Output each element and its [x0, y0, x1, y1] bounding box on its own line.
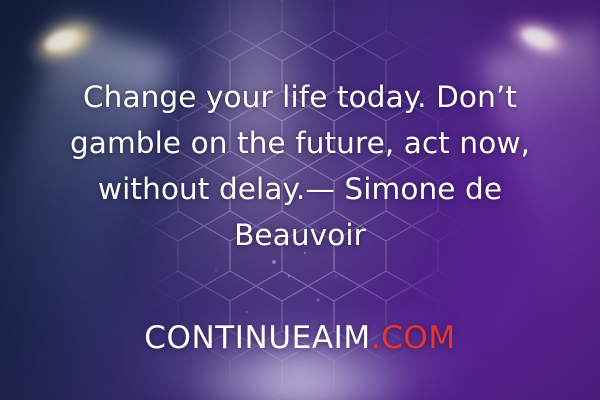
quote-graphic: Change your life today. Don’t gamble on …: [0, 0, 600, 400]
quote-text: Change your life today. Don’t gamble on …: [0, 74, 600, 258]
site-watermark: CONTINUEAIM.COM: [0, 320, 600, 356]
watermark-brand: CONTINUEAIM: [144, 320, 370, 356]
watermark-tld: .COM: [371, 320, 456, 356]
